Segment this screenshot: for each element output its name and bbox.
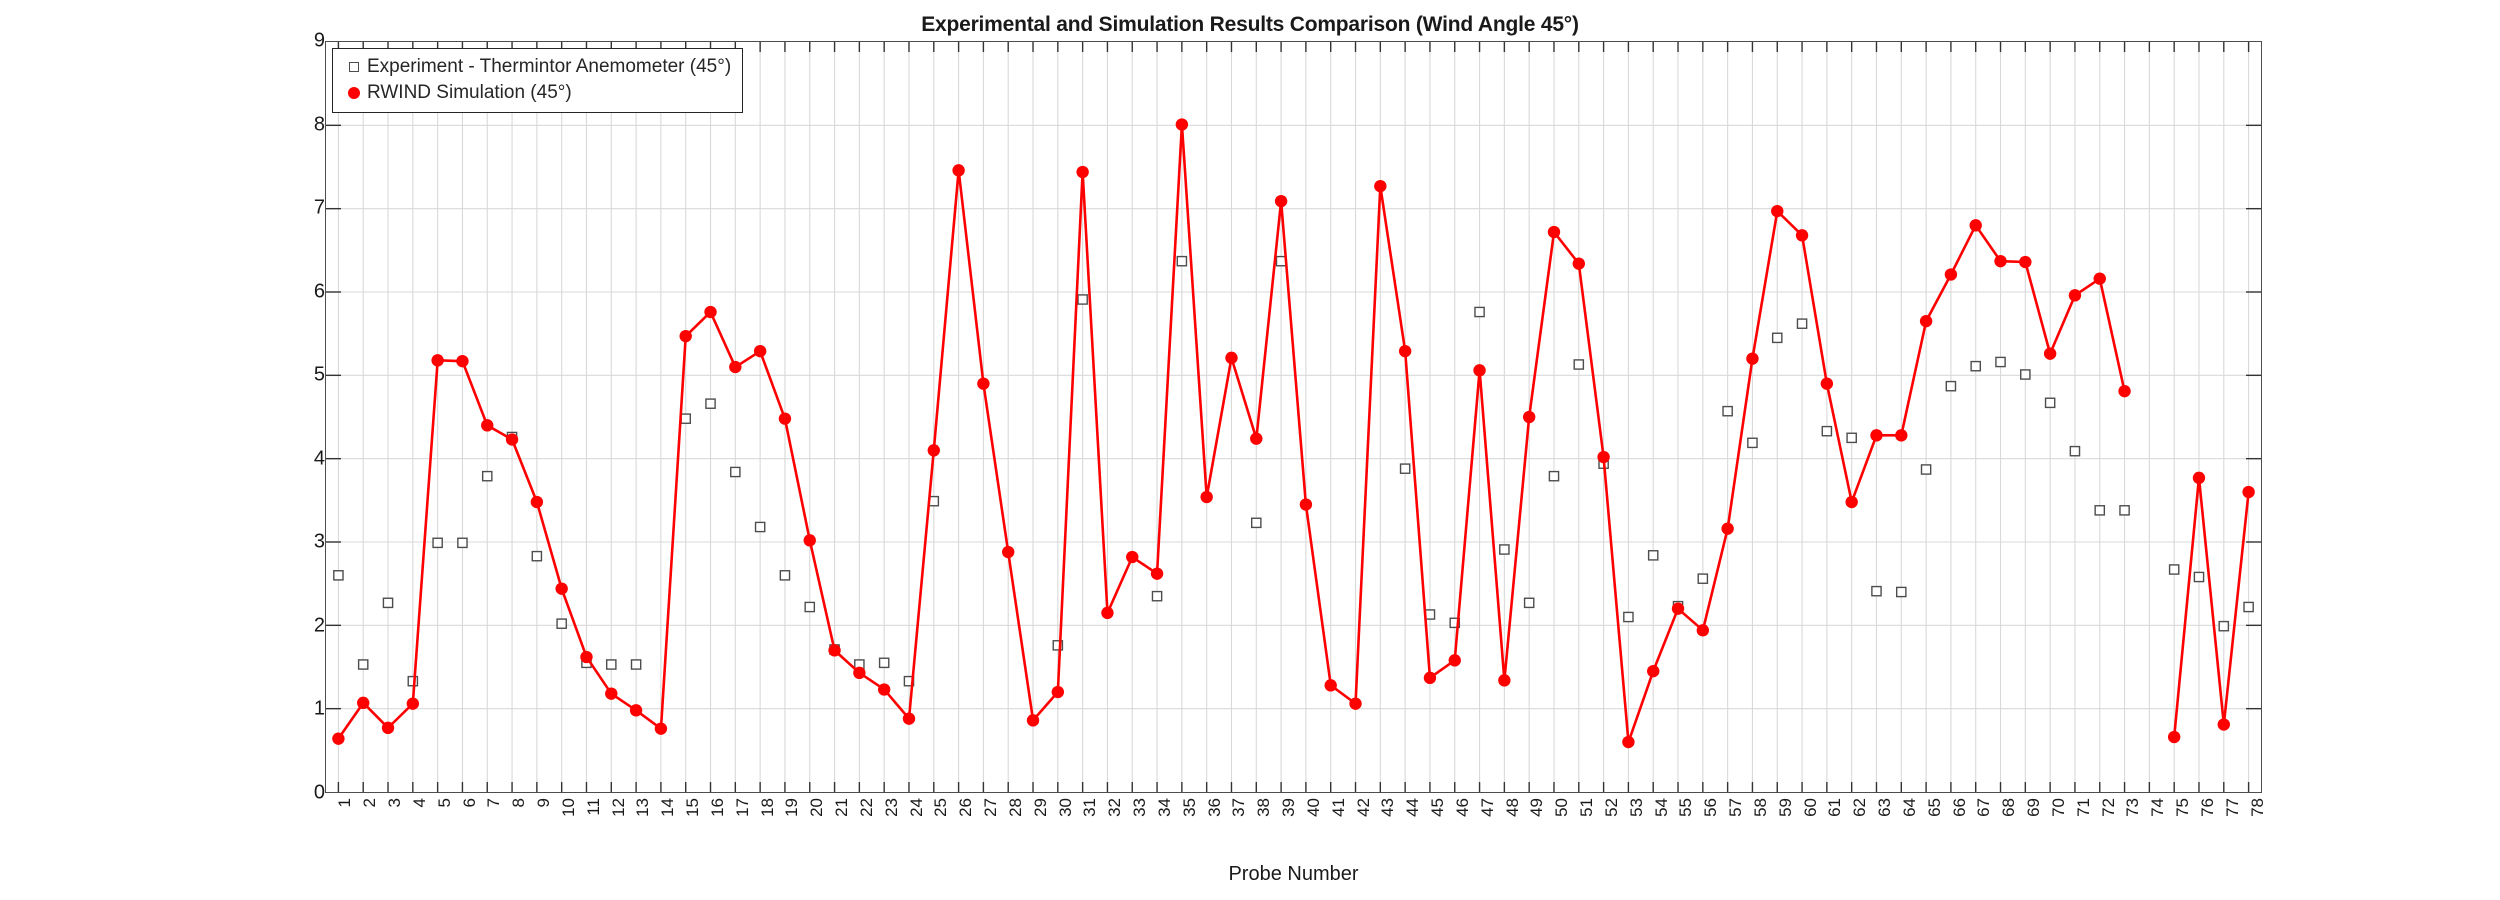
data-point <box>630 704 642 716</box>
data-point <box>952 164 964 176</box>
data-point <box>1597 451 1609 463</box>
x-tick-32: 32 <box>1105 798 1125 817</box>
x-tick-64: 64 <box>1900 798 1920 817</box>
data-point <box>1895 429 1907 441</box>
data-point <box>1796 229 1808 241</box>
data-point <box>1697 624 1709 636</box>
x-tick-60: 60 <box>1801 798 1821 817</box>
x-tick-1: 1 <box>335 798 355 807</box>
x-tick-8: 8 <box>509 798 529 807</box>
x-tick-26: 26 <box>956 798 976 817</box>
data-point <box>1002 546 1014 558</box>
data-point <box>754 345 766 357</box>
data-point <box>878 683 890 695</box>
x-tick-63: 63 <box>1875 798 1895 817</box>
x-tick-52: 52 <box>1602 798 1622 817</box>
data-point <box>1970 219 1982 231</box>
data-point <box>704 306 716 318</box>
x-tick-16: 16 <box>708 798 728 817</box>
x-tick-23: 23 <box>882 798 902 817</box>
data-point <box>359 660 368 669</box>
data-point <box>1622 736 1634 748</box>
data-point <box>779 412 791 424</box>
data-point <box>731 467 740 476</box>
data-point <box>408 677 417 686</box>
data-point <box>880 658 889 667</box>
data-point <box>1250 432 1262 444</box>
data-point <box>334 571 343 580</box>
data-point <box>1275 195 1287 207</box>
legend-marker <box>341 62 367 72</box>
data-point <box>1698 574 1707 583</box>
data-layer <box>326 42 2261 792</box>
x-tick-46: 46 <box>1453 798 1473 817</box>
data-point <box>655 722 667 734</box>
data-point <box>557 619 566 628</box>
data-point <box>605 687 617 699</box>
legend-label: RWIND Simulation (45°) <box>367 82 572 104</box>
data-point <box>1872 587 1881 596</box>
data-point <box>1424 672 1436 684</box>
data-point <box>729 361 741 373</box>
data-point <box>1277 257 1286 266</box>
data-point <box>607 660 616 669</box>
data-point <box>1152 592 1161 601</box>
y-axis-title: Velocity [m/s] <box>0 358 2 476</box>
data-point <box>1101 607 1113 619</box>
data-point <box>1401 464 1410 473</box>
data-point <box>1797 319 1806 328</box>
data-point <box>458 538 467 547</box>
x-tick-28: 28 <box>1006 798 1026 817</box>
data-point <box>1126 551 1138 563</box>
x-tick-65: 65 <box>1925 798 1945 817</box>
x-tick-21: 21 <box>832 798 852 817</box>
data-point <box>2019 256 2031 268</box>
data-point <box>632 660 641 669</box>
filled-circle-icon <box>348 87 360 99</box>
data-point <box>1374 180 1386 192</box>
data-point <box>1325 679 1337 691</box>
x-tick-47: 47 <box>1478 798 1498 817</box>
data-point <box>1252 518 1261 527</box>
chart-legend: Experiment - Thermintor Anemometer (45°)… <box>332 48 743 113</box>
data-point <box>2219 622 2228 631</box>
x-tick-67: 67 <box>1974 798 1994 817</box>
legend-item-0[interactable]: Experiment - Thermintor Anemometer (45°) <box>341 54 731 80</box>
data-point <box>1845 496 1857 508</box>
data-point <box>1870 429 1882 441</box>
data-point <box>1971 362 1980 371</box>
data-point <box>1349 697 1361 709</box>
legend-label: Experiment - Thermintor Anemometer (45°) <box>367 56 731 78</box>
data-point <box>2021 370 2030 379</box>
data-point <box>1449 654 1461 666</box>
data-point <box>1475 307 1484 316</box>
data-point <box>2046 398 2055 407</box>
data-point <box>2242 486 2254 498</box>
data-point <box>1225 352 1237 364</box>
data-point <box>2193 472 2205 484</box>
data-point <box>1897 587 1906 596</box>
data-point <box>1748 438 1757 447</box>
data-point <box>1996 357 2005 366</box>
data-point <box>1176 118 1188 130</box>
data-point <box>680 330 692 342</box>
data-point <box>2120 506 2129 515</box>
data-point <box>853 667 865 679</box>
x-tick-58: 58 <box>1751 798 1771 817</box>
data-point <box>1721 522 1733 534</box>
data-point <box>903 712 915 724</box>
data-point <box>928 444 940 456</box>
x-tick-49: 49 <box>1527 798 1547 817</box>
data-point <box>357 697 369 709</box>
x-tick-66: 66 <box>1950 798 1970 817</box>
data-point <box>804 534 816 546</box>
data-point <box>2118 385 2130 397</box>
data-point <box>555 582 567 594</box>
x-tick-61: 61 <box>1825 798 1845 817</box>
legend-item-1[interactable]: RWIND Simulation (45°) <box>341 80 731 106</box>
data-point <box>580 651 592 663</box>
x-tick-10: 10 <box>559 798 579 817</box>
x-tick-15: 15 <box>683 798 703 817</box>
data-point <box>382 722 394 734</box>
data-point <box>1177 257 1186 266</box>
data-point <box>481 419 493 431</box>
x-tick-14: 14 <box>658 798 678 817</box>
data-point <box>681 414 690 423</box>
data-point <box>1027 714 1039 726</box>
data-point <box>383 598 392 607</box>
x-tick-39: 39 <box>1279 798 1299 817</box>
data-point <box>1573 257 1585 269</box>
data-point <box>1523 411 1535 423</box>
x-tick-18: 18 <box>758 798 778 817</box>
x-tick-53: 53 <box>1627 798 1647 817</box>
x-tick-54: 54 <box>1652 798 1672 817</box>
data-point <box>2069 289 2081 301</box>
x-tick-41: 41 <box>1329 798 1349 817</box>
data-point <box>1425 610 1434 619</box>
data-point <box>780 571 789 580</box>
x-tick-6: 6 <box>460 798 480 807</box>
x-tick-22: 22 <box>857 798 877 817</box>
data-point <box>1500 545 1509 554</box>
x-tick-68: 68 <box>1999 798 2019 817</box>
data-point <box>332 732 344 744</box>
x-tick-50: 50 <box>1552 798 1572 817</box>
x-tick-75: 75 <box>2173 798 2193 817</box>
data-point <box>2244 602 2253 611</box>
data-point <box>531 496 543 508</box>
x-tick-3: 3 <box>385 798 405 807</box>
x-axis-title: Probe Number <box>325 863 2262 886</box>
open-square-icon <box>349 62 359 72</box>
data-point <box>1647 665 1659 677</box>
x-tick-7: 7 <box>484 798 504 807</box>
data-point <box>1498 674 1510 686</box>
x-tick-44: 44 <box>1403 798 1423 817</box>
x-tick-37: 37 <box>1229 798 1249 817</box>
data-point <box>1920 315 1932 327</box>
x-tick-25: 25 <box>931 798 951 817</box>
data-point <box>456 355 468 367</box>
data-point <box>1525 598 1534 607</box>
x-tick-35: 35 <box>1180 798 1200 817</box>
figure: Experimental and Simulation Results Comp… <box>0 0 2500 900</box>
data-point <box>506 433 518 445</box>
x-tick-38: 38 <box>1254 798 1274 817</box>
data-point <box>977 377 989 389</box>
x-tick-9: 9 <box>534 798 554 807</box>
data-point <box>431 354 443 366</box>
data-point <box>1821 377 1833 389</box>
data-point <box>1300 498 1312 510</box>
x-tick-62: 62 <box>1850 798 1870 817</box>
data-point <box>1076 166 1088 178</box>
data-point <box>1574 360 1583 369</box>
data-point <box>1548 226 1560 238</box>
data-point <box>433 538 442 547</box>
x-tick-11: 11 <box>584 798 604 816</box>
data-point <box>1946 382 1955 391</box>
x-tick-40: 40 <box>1304 798 1324 817</box>
x-tick-34: 34 <box>1155 798 1175 817</box>
x-tick-56: 56 <box>1701 798 1721 817</box>
x-tick-76: 76 <box>2198 798 2218 817</box>
data-point <box>805 602 814 611</box>
x-tick-51: 51 <box>1577 798 1597 817</box>
data-point <box>2044 347 2056 359</box>
x-tick-4: 4 <box>410 798 430 807</box>
x-tick-48: 48 <box>1503 798 1523 817</box>
x-tick-33: 33 <box>1130 798 1150 817</box>
data-point <box>1649 551 1658 560</box>
data-point <box>1994 255 2006 267</box>
data-point <box>2070 447 2079 456</box>
x-tick-27: 27 <box>981 798 1001 817</box>
x-tick-77: 77 <box>2223 798 2243 817</box>
data-point <box>1746 352 1758 364</box>
plot-area <box>325 41 2262 793</box>
data-point <box>2095 506 2104 515</box>
data-point <box>2094 272 2106 284</box>
data-point <box>2170 565 2179 574</box>
x-tick-74: 74 <box>2148 798 2168 817</box>
legend-marker <box>341 87 367 99</box>
x-tick-29: 29 <box>1031 798 1051 817</box>
data-point <box>2194 572 2203 581</box>
x-tick-78: 78 <box>2248 798 2268 817</box>
data-point <box>1549 472 1558 481</box>
data-point <box>756 522 765 531</box>
x-tick-30: 30 <box>1056 798 1076 817</box>
data-point <box>1945 268 1957 280</box>
x-tick-71: 71 <box>2074 798 2094 817</box>
data-point <box>1151 567 1163 579</box>
data-point <box>1773 333 1782 342</box>
x-tick-12: 12 <box>609 798 629 817</box>
x-tick-69: 69 <box>2024 798 2044 817</box>
data-point <box>1078 295 1087 304</box>
x-tick-57: 57 <box>1726 798 1746 817</box>
data-point <box>532 552 541 561</box>
x-tick-5: 5 <box>435 798 455 807</box>
x-tick-73: 73 <box>2123 798 2143 817</box>
x-tick-55: 55 <box>1676 798 1696 817</box>
x-tick-24: 24 <box>907 798 927 817</box>
data-point <box>1771 205 1783 217</box>
x-tick-31: 31 <box>1080 798 1100 817</box>
data-point <box>407 697 419 709</box>
x-tick-72: 72 <box>2099 798 2119 817</box>
x-tick-36: 36 <box>1205 798 1225 817</box>
data-point <box>1922 465 1931 474</box>
x-tick-17: 17 <box>733 798 753 817</box>
data-point <box>2218 718 2230 730</box>
data-point <box>1723 407 1732 416</box>
data-point <box>706 399 715 408</box>
data-point <box>1847 433 1856 442</box>
data-point <box>1200 491 1212 503</box>
x-tick-70: 70 <box>2049 798 2069 817</box>
x-tick-20: 20 <box>807 798 827 817</box>
x-tick-13: 13 <box>633 798 653 817</box>
data-point <box>1399 345 1411 357</box>
data-point <box>1624 612 1633 621</box>
data-point <box>1672 602 1684 614</box>
data-point <box>1822 427 1831 436</box>
x-tick-59: 59 <box>1776 798 1796 817</box>
x-tick-19: 19 <box>782 798 802 817</box>
x-tick-2: 2 <box>360 798 380 807</box>
x-tick-43: 43 <box>1378 798 1398 817</box>
x-tick-45: 45 <box>1428 798 1448 817</box>
data-point <box>1473 364 1485 376</box>
data-point <box>828 644 840 656</box>
data-point <box>483 472 492 481</box>
x-tick-42: 42 <box>1354 798 1374 817</box>
data-point <box>2168 731 2180 743</box>
data-point <box>1052 686 1064 698</box>
page-title: Experimental and Simulation Results Comp… <box>0 13 2500 37</box>
